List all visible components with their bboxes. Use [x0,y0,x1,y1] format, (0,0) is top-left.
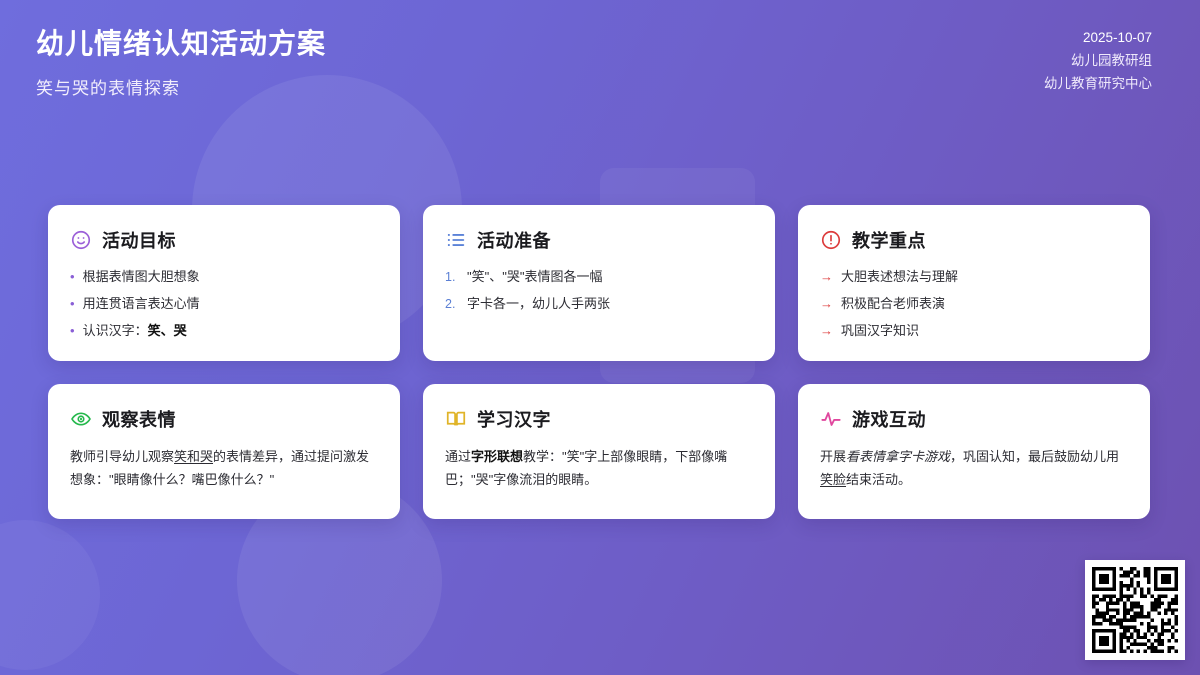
arrow-marker: → [820,267,833,287]
preparation-list: 1."笑"、"哭"表情图各一幅 2.字卡各一，幼儿人手两张 [445,267,753,314]
list-item-text: 巩固汉字知识 [841,321,919,341]
decorative-circle-edge [0,520,100,670]
list-item-text: 大胆表述想法与理解 [841,267,958,287]
list-item-text: 用连贯语言表达心情 [83,294,200,314]
smiley-icon [70,229,92,251]
card-title: 活动目标 [102,227,176,253]
activity-pulse-icon [820,408,842,430]
list-item: →巩固汉字知识 [820,321,1128,341]
list-icon [445,229,467,251]
meta-date: 2025-10-07 [1044,26,1152,49]
card-title: 活动准备 [477,227,551,253]
card-body: 通过字形联想教学："笑"字上部像眼睛，下部像嘴巴；"哭"字像流泪的眼睛。 [445,446,753,491]
slide-canvas: 幼儿情绪认知活动方案 笑与哭的表情探索 2025-10-07 幼儿园教研组 幼儿… [0,0,1200,675]
focus-list: →大胆表述想法与理解 →积极配合老师表演 →巩固汉字知识 [820,267,1128,341]
list-item: •用连贯语言表达心情 [70,294,378,314]
book-icon [445,408,467,430]
header-left: 幼儿情绪认知活动方案 笑与哭的表情探索 [36,26,326,99]
card-title: 教学重点 [852,227,926,253]
header-meta: 2025-10-07 幼儿园教研组 幼儿教育研究中心 [1044,26,1152,96]
alert-circle-icon [820,229,842,251]
list-item: 2.字卡各一，幼儿人手两张 [445,294,753,314]
card-title: 观察表情 [102,406,176,432]
slide-header: 幼儿情绪认知活动方案 笑与哭的表情探索 2025-10-07 幼儿园教研组 幼儿… [0,0,1200,150]
card-header: 学习汉字 [445,406,753,432]
card-activity-goal[interactable]: 活动目标 •根据表情图大胆想象 •用连贯语言表达心情 •认识汉字：笑、哭 [48,205,400,361]
card-observe-expression[interactable]: 观察表情 教师引导幼儿观察笑和哭的表情差异，通过提问激发想象："眼睛像什么？嘴巴… [48,384,400,519]
list-item: •认识汉字：笑、哭 [70,321,378,341]
card-header: 游戏互动 [820,406,1128,432]
card-game-interaction[interactable]: 游戏互动 开展看表情拿字卡游戏，巩固认知，最后鼓励幼儿用笑脸结束活动。 [798,384,1150,519]
arrow-marker: → [820,294,833,314]
card-learn-characters[interactable]: 学习汉字 通过字形联想教学："笑"字上部像眼睛，下部像嘴巴；"哭"字像流泪的眼睛… [423,384,775,519]
list-item-text: 字卡各一，幼儿人手两张 [467,294,610,314]
meta-org: 幼儿园教研组 [1044,49,1152,72]
qr-code-image [1092,567,1178,653]
card-header: 教学重点 [820,227,1128,253]
card-header: 活动目标 [70,227,378,253]
card-teaching-focus[interactable]: 教学重点 →大胆表述想法与理解 →积极配合老师表演 →巩固汉字知识 [798,205,1150,361]
list-item: →大胆表述想法与理解 [820,267,1128,287]
bullet-marker: • [70,267,75,287]
card-body: 开展看表情拿字卡游戏，巩固认知，最后鼓励幼儿用笑脸结束活动。 [820,446,1128,491]
bullet-marker: • [70,294,75,314]
cards-grid: 活动目标 •根据表情图大胆想象 •用连贯语言表达心情 •认识汉字：笑、哭 活动准… [48,205,1152,519]
list-item-text: 认识汉字：笑、哭 [83,321,187,341]
list-item-text: "笑"、"哭"表情图各一幅 [467,267,602,287]
card-header: 观察表情 [70,406,378,432]
list-item: 1."笑"、"哭"表情图各一幅 [445,267,753,287]
card-header: 活动准备 [445,227,753,253]
card-body: 教师引导幼儿观察笑和哭的表情差异，通过提问激发想象："眼睛像什么？嘴巴像什么？" [70,446,378,491]
arrow-marker: → [820,321,833,341]
list-item-text: 根据表情图大胆想象 [83,267,200,287]
qr-code[interactable] [1085,560,1185,660]
card-title: 游戏互动 [852,406,926,432]
page-subtitle: 笑与哭的表情探索 [36,74,326,99]
card-title: 学习汉字 [477,406,551,432]
number-marker: 2. [445,294,459,314]
list-item: →积极配合老师表演 [820,294,1128,314]
list-item-text: 积极配合老师表演 [841,294,945,314]
number-marker: 1. [445,267,459,287]
list-item: •根据表情图大胆想象 [70,267,378,287]
goal-list: •根据表情图大胆想象 •用连贯语言表达心情 •认识汉字：笑、哭 [70,267,378,341]
meta-center: 幼儿教育研究中心 [1044,72,1152,95]
card-activity-preparation[interactable]: 活动准备 1."笑"、"哭"表情图各一幅 2.字卡各一，幼儿人手两张 [423,205,775,361]
eye-icon [70,408,92,430]
page-title: 幼儿情绪认知活动方案 [36,26,326,62]
bullet-marker: • [70,321,75,341]
